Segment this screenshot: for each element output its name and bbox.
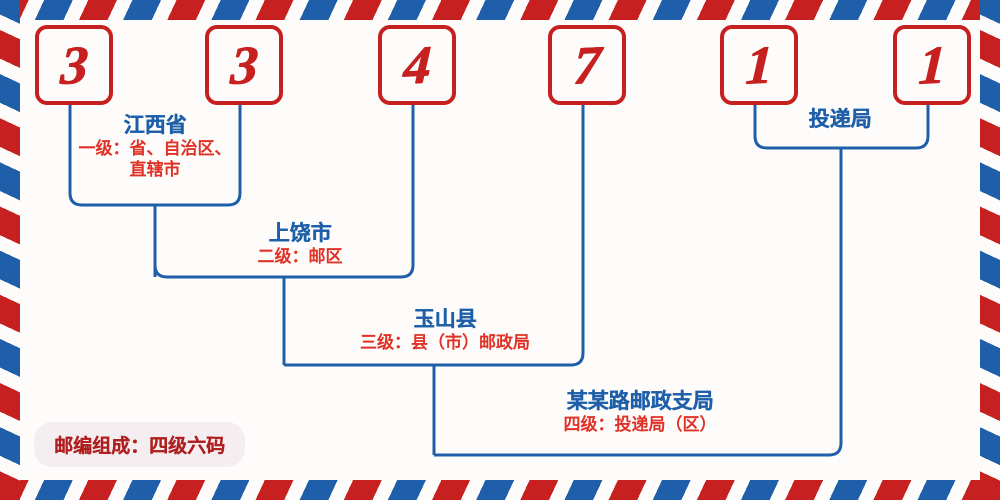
postcode-digit-3[interactable]: 4 xyxy=(378,25,456,105)
digit-glyph: 1 xyxy=(744,37,774,92)
level-4-desc: 四级：投递局（区） xyxy=(515,414,765,435)
digit-glyph: 1 xyxy=(917,37,947,92)
delivery-office-label: 投递局 xyxy=(760,107,920,132)
postcode-digit-6[interactable]: 1 xyxy=(893,25,971,105)
postcode-digit-5[interactable]: 1 xyxy=(720,25,798,105)
digit-glyph: 3 xyxy=(229,37,259,92)
level-4-name: 某某路邮政支局 xyxy=(515,389,765,414)
postcode-diagram: 3 3 4 7 1 1 投递局 江西省 一级：省、自治区、直辖市 上饶市 二级：… xyxy=(0,0,1000,500)
digit-glyph: 4 xyxy=(402,37,432,92)
level-3-name: 玉山县 xyxy=(310,307,580,332)
digit-glyph: 3 xyxy=(59,37,89,92)
level-3-desc: 三级：县（市）邮政局 xyxy=(310,332,580,353)
postcode-digit-1[interactable]: 3 xyxy=(35,25,113,105)
level-1-label: 江西省 一级：省、自治区、直辖市 xyxy=(75,113,235,181)
postcode-digit-2[interactable]: 3 xyxy=(205,25,283,105)
level-3-label: 玉山县 三级：县（市）邮政局 xyxy=(310,307,580,353)
level-2-label: 上饶市 二级：邮区 xyxy=(185,221,415,267)
level-1-desc: 一级：省、自治区、直辖市 xyxy=(75,138,235,181)
level-2-desc: 二级：邮区 xyxy=(185,246,415,267)
digit-glyph: 7 xyxy=(572,37,602,92)
level-2-name: 上饶市 xyxy=(185,221,415,246)
level-4-label: 某某路邮政支局 四级：投递局（区） xyxy=(515,389,765,435)
bracket-level-4 xyxy=(434,443,841,455)
delivery-office-name: 投递局 xyxy=(760,107,920,132)
postcode-composition-badge: 邮编组成：四级六码 xyxy=(34,422,245,467)
postcode-digit-4[interactable]: 7 xyxy=(548,25,626,105)
level-1-name: 江西省 xyxy=(75,113,235,138)
